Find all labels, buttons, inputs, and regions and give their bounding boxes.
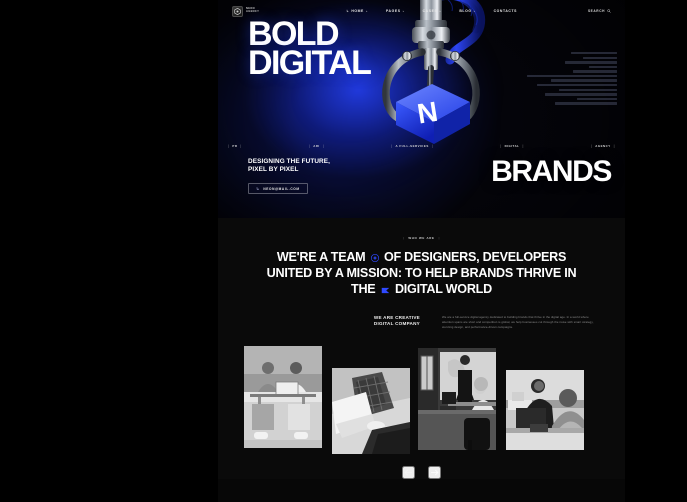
hero-subtitle-line-1: DESIGNING THE FUTURE, xyxy=(248,158,330,166)
nav-home-suffix: » xyxy=(366,10,368,13)
sparkle-badge-icon xyxy=(371,254,379,262)
about-headline: WE'RE A TEAM OF DESIGNERS, DEVELOPERS UN… xyxy=(257,250,587,298)
screenshot-root: N NEON AGENCY ↳HOME» P xyxy=(0,0,687,502)
gallery-item-1[interactable] xyxy=(332,368,410,454)
hero-tag-2: A FULL-SERVICES xyxy=(391,144,433,148)
hero-tag-strip: PR ARI A FULL-SERVICES DIGITAL AGENCY xyxy=(218,140,625,152)
hero-section: N NEON AGENCY ↳HOME» P xyxy=(218,0,625,218)
gallery-prev-button[interactable] xyxy=(402,466,415,479)
nav-item-pages[interactable]: PAGES» xyxy=(377,9,414,13)
hero-tag-1-label: ARI xyxy=(313,144,319,148)
nav-pages-suffix: » xyxy=(403,10,405,13)
about-left-column: WE ARE CREATIVE DIGITAL COMPANY xyxy=(244,315,420,331)
colleagues-talking-photo xyxy=(506,370,584,450)
hero-subtitle-line-2: PIXEL BY PIXEL xyxy=(248,166,330,174)
about-columns: WE ARE CREATIVE DIGITAL COMPANY We are a… xyxy=(244,315,599,331)
arrow-left-icon xyxy=(404,468,413,477)
hero-title-line-2: DIGITAL xyxy=(248,49,370,78)
gallery-item-3[interactable] xyxy=(506,370,584,450)
office-meeting-photo xyxy=(418,348,496,450)
gallery-item-2[interactable] xyxy=(418,348,496,450)
search-label: SEARCH xyxy=(588,9,605,13)
about-headline-part-5: DIGITAL WORLD xyxy=(395,282,492,296)
nav-cases-suffix: » xyxy=(439,10,441,13)
about-eyebrow: WHO WE ARE xyxy=(403,236,440,240)
about-eyebrow-label: WHO WE ARE xyxy=(408,236,434,240)
about-paragraph: We are a full-service digital agency ded… xyxy=(442,315,599,331)
hero-tag-4: AGENCY xyxy=(591,144,615,148)
nav-home-prefix-icon: ↳ xyxy=(346,9,349,13)
hero-subtitle: DESIGNING THE FUTURE, PIXEL BY PIXEL xyxy=(248,158,330,174)
about-left-title-line-2: DIGITAL COMPANY xyxy=(374,321,420,326)
photo-gallery xyxy=(244,346,599,454)
gallery-navigation xyxy=(218,466,625,479)
arrow-right-icon xyxy=(430,468,439,477)
gallery-item-0[interactable] xyxy=(244,346,322,448)
hero-tag-2-label: A FULL-SERVICES xyxy=(396,144,429,148)
hero-email-label: NEON@MAIL.COM xyxy=(263,187,299,191)
brand-logo[interactable]: NEON AGENCY xyxy=(232,6,259,17)
about-left-title: WE ARE CREATIVE DIGITAL COMPANY xyxy=(374,315,420,331)
search-button[interactable]: SEARCH xyxy=(588,9,611,13)
nav-item-pages-label: PAGES xyxy=(386,9,401,13)
nav-blog-suffix: » xyxy=(474,10,476,13)
brand-line-2: AGENCY xyxy=(246,11,259,14)
nav-item-blog-label: BLOG xyxy=(459,9,471,13)
about-headline-part-3: UNITED BY A MISSION: TO HELP BRANDS THRI… xyxy=(267,266,561,280)
hero-title-line-3: BRANDS xyxy=(491,158,611,185)
arrow-down-right-icon: ↳ xyxy=(256,186,259,191)
website-viewport: N NEON AGENCY ↳HOME» P xyxy=(218,0,625,502)
hero-title: BOLD DIGITAL xyxy=(248,20,370,78)
nav-item-cases-label: CASES xyxy=(423,9,438,13)
nav-item-contacts[interactable]: CONTACTS xyxy=(485,9,526,13)
about-section: WHO WE ARE WE'RE A TEAM OF DESIGNERS, DE… xyxy=(218,218,625,479)
top-navigation: NEON AGENCY ↳HOME» PAGES» CASES» BLOG» xyxy=(218,0,625,22)
search-icon xyxy=(607,9,611,13)
flag-icon xyxy=(381,287,390,294)
nav-item-cases[interactable]: CASES» xyxy=(414,9,451,13)
nav-item-home[interactable]: ↳HOME» xyxy=(337,9,377,13)
about-right-column: We are a full-service digital agency ded… xyxy=(420,315,599,331)
person-with-laptop-photo xyxy=(332,368,410,454)
hexagon-logo-icon xyxy=(232,6,243,17)
nav-item-blog[interactable]: BLOG» xyxy=(450,9,484,13)
hero-tag-3: DIGITAL xyxy=(500,144,524,148)
about-left-title-line-1: WE ARE CREATIVE xyxy=(374,315,420,320)
hero-tag-4-label: AGENCY xyxy=(595,144,610,148)
hero-tag-3-label: DIGITAL xyxy=(505,144,520,148)
gallery-next-button[interactable] xyxy=(428,466,441,479)
hero-code-overlay xyxy=(513,52,617,105)
nav-item-home-label: HOME xyxy=(351,9,364,13)
hero-email-button[interactable]: ↳ NEON@MAIL.COM xyxy=(248,183,308,194)
two-women-at-laptop-photo xyxy=(244,346,322,448)
about-headline-part-2: OF DESIGNERS, DEVELOPERS xyxy=(384,250,566,264)
hero-tag-1: ARI xyxy=(309,144,324,148)
hero-tag-0: PR xyxy=(228,144,242,148)
hero-tag-0-label: PR xyxy=(232,144,237,148)
nav-item-contacts-label: CONTACTS xyxy=(494,9,517,13)
nav-links: ↳HOME» PAGES» CASES» BLOG» CONTACTS xyxy=(337,9,526,13)
about-headline-part-1: WE'RE A TEAM xyxy=(277,250,366,264)
